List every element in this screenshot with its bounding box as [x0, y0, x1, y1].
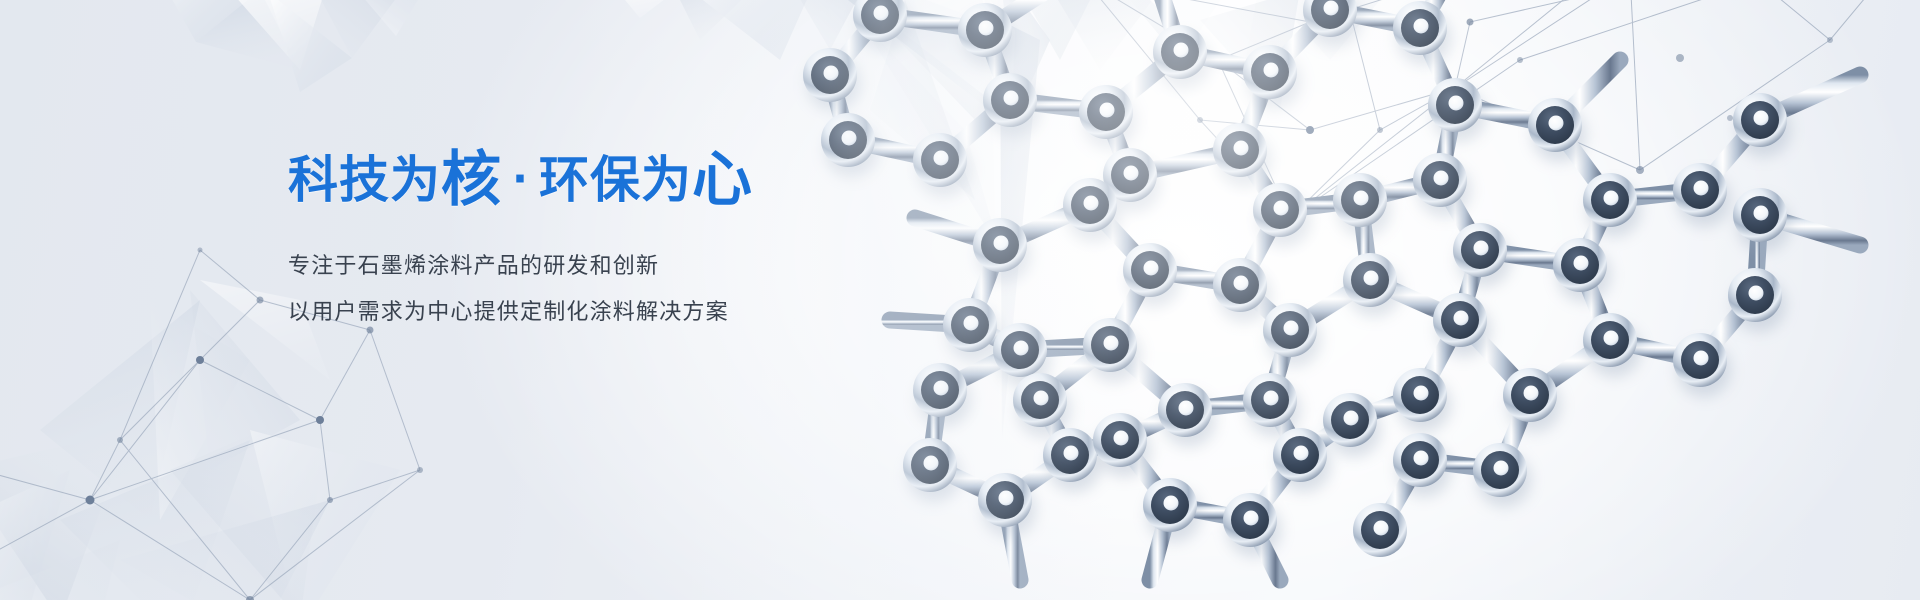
page-title: 科技为核·环保为心: [288, 150, 908, 210]
subtitle-line-1: 专注于石墨烯涂料产品的研发和创新: [288, 250, 908, 284]
headline-part-2: 环保为: [539, 151, 692, 209]
hero-banner: 科技为核·环保为心 专注于石墨烯涂料产品的研发和创新 以用户需求为中心提供定制化…: [0, 0, 1920, 600]
headline-emphasis-2: 心: [692, 145, 753, 215]
hero-subtitle: 专注于石墨烯涂料产品的研发和创新 以用户需求为中心提供定制化涂料解决方案: [288, 210, 908, 330]
headline-part-1: 科技为: [288, 151, 441, 209]
headline-separator: ·: [502, 154, 539, 203]
subtitle-line-2: 以用户需求为中心提供定制化涂料解决方案: [288, 296, 908, 330]
hero-copy: 科技为核·环保为心 专注于石墨烯涂料产品的研发和创新 以用户需求为中心提供定制化…: [288, 150, 908, 330]
headline-emphasis-1: 核: [441, 145, 502, 215]
